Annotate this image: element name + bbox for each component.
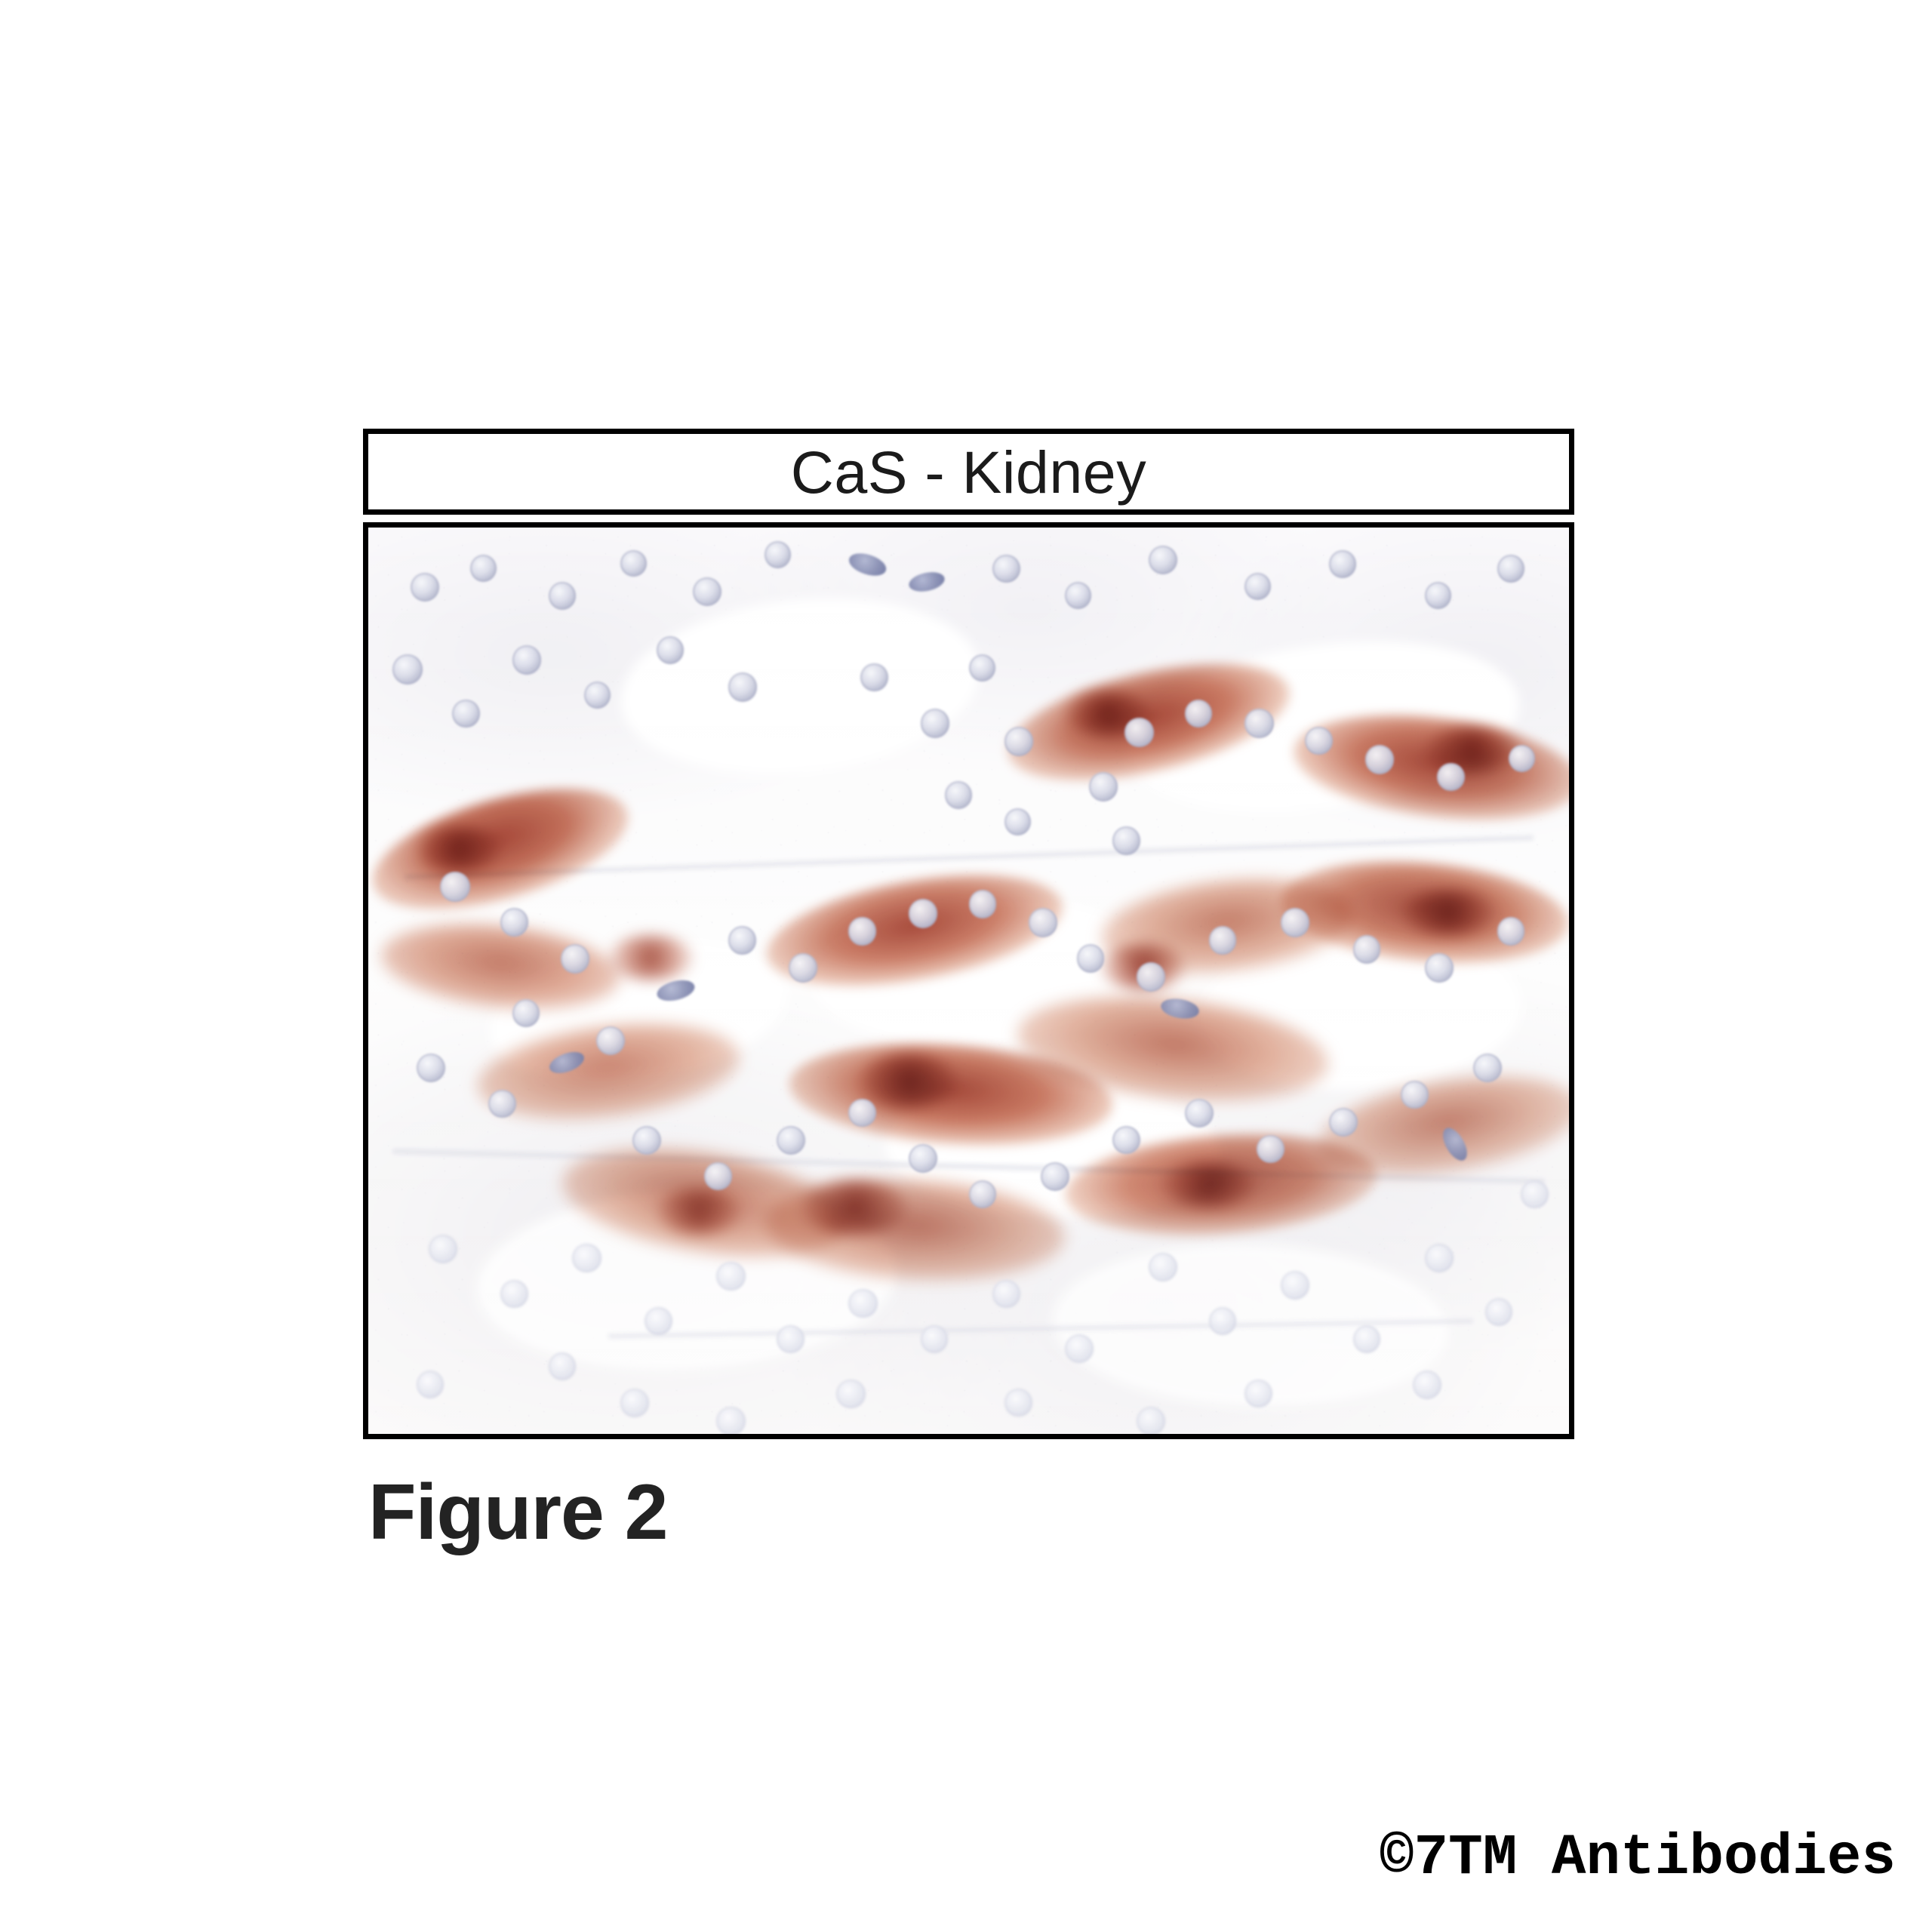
figure-caption: Figure 2 (368, 1473, 668, 1552)
panel-title: CaS - Kidney (791, 442, 1146, 502)
ihc-micrograph-kidney-cas (368, 528, 1569, 1434)
micrograph-frame (363, 522, 1574, 1439)
figure-panel: CaS - Kidney (363, 429, 1574, 1439)
micrograph-soften-overlay (368, 528, 1569, 1434)
panel-header-box: CaS - Kidney (363, 429, 1574, 515)
copyright-notice: ©7TM Antibodies (1380, 1829, 1896, 1887)
